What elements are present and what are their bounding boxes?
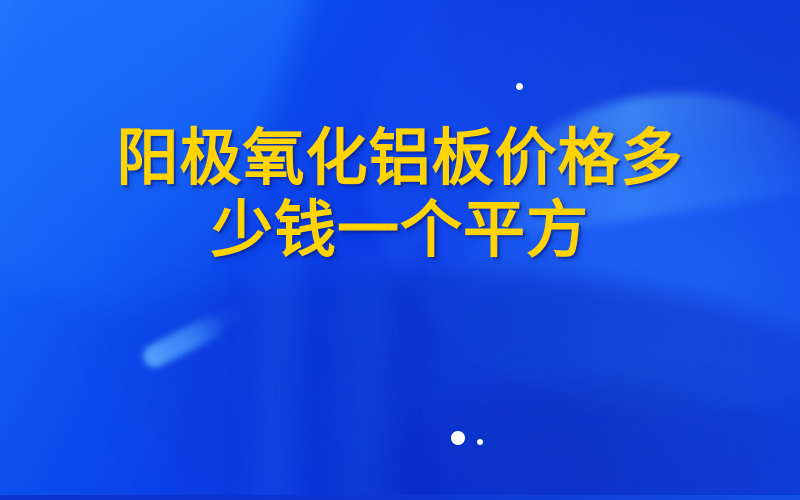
headline-line-1: 阳极氧化铝板价格多 [0,122,800,194]
footer-edge-divider [0,495,800,500]
decor-dot-small [477,439,483,445]
headline-line-2: 少钱一个平方 [0,194,800,266]
comet-streak-shape [139,312,226,372]
promo-banner: 阳极氧化铝板价格多 少钱一个平方 [0,0,800,500]
light-streaks-shape [240,250,460,500]
decor-dot-top [516,83,523,90]
wave-band-shape [0,270,800,500]
decor-dot-large [451,431,465,445]
blob-shape [330,380,800,500]
comet-tail-shape [181,303,249,345]
headline-title: 阳极氧化铝板价格多 少钱一个平方 [0,122,800,266]
